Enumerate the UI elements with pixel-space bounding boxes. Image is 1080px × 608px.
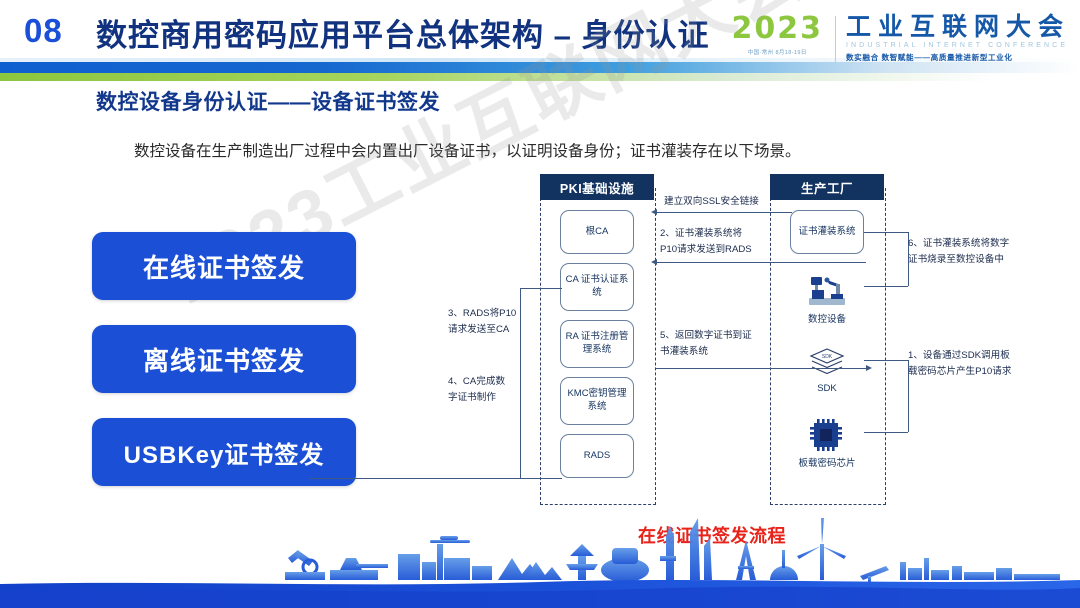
button-label: 在线证书签发 (143, 248, 305, 285)
node-root-ca[interactable]: 根CA (560, 210, 634, 254)
cnc-machine-icon (805, 274, 849, 308)
logo-tagline: 数实融合 数智赋能——高质量推进新型工业化 (846, 52, 1070, 63)
annotation-step-3: 3、RADS将P10 请求发送至CA (448, 306, 516, 339)
factory-item-label: 板载密码芯片 (782, 455, 872, 469)
node-rads[interactable]: RADS (560, 434, 634, 478)
annotation-step-6-line1: 6、证书灌装系统将数字 (908, 236, 1009, 252)
annotation-step-1-line2: 载密码芯片产生P10请求 (908, 364, 1011, 380)
annotation-step-1-line1: 1、设备通过SDK调用板 (908, 348, 1011, 364)
arrow-ssl (651, 209, 657, 215)
annotation-step-2: 2、证书灌装系统将 P10请求发送到RADS (660, 226, 752, 259)
node-cert-filling-system[interactable]: 证书灌装系统 (790, 210, 864, 254)
certificate-issue-flow-diagram: PKI基础设施 生产工厂 根CA CA 证书认证系统 RA 证书注册管理系统 K… (420, 178, 1080, 528)
footer-skyline (0, 510, 1080, 608)
svg-text:SDK: SDK (822, 354, 833, 360)
logo-year: 2023 (731, 14, 823, 44)
slide-root: 08 数控商用密码应用平台总体架构 – 身份认证 2023 中国·常州 8月18… (0, 0, 1080, 608)
conference-logo: 2023 中国·常州 8月18-19日 工业互联网大会 INDUSTRIAL I… (731, 14, 1070, 70)
lane-header-pki: PKI基础设施 (540, 174, 654, 200)
section-title: 数控设备身份认证——设备证书签发 (96, 86, 440, 116)
node-ca-system[interactable]: CA 证书认证系统 (560, 263, 634, 311)
arrow-step2 (651, 259, 657, 265)
factory-item-cnc: 数控设备 (782, 274, 872, 325)
arrow-step5 (866, 365, 872, 371)
button-online-cert-issue[interactable]: 在线证书签发 (92, 232, 356, 300)
node-ra-system[interactable]: RA 证书注册管理系统 (560, 320, 634, 368)
page-number: 08 (24, 12, 63, 50)
connector-step3-top (520, 288, 562, 289)
annotation-step-5: 5、返回数字证书到证 书灌装系统 (660, 328, 752, 361)
button-label: USBKey证书签发 (124, 435, 325, 470)
connector-rads-bottom (310, 478, 562, 479)
logo-year-block: 2023 中国·常州 8月18-19日 (731, 14, 835, 56)
logo-name-block: 工业互联网大会 INDUSTRIAL INTERNET CONFERENCE 数… (846, 14, 1070, 63)
button-offline-cert-issue[interactable]: 离线证书签发 (92, 325, 356, 393)
annotation-step-6: 6、证书灌装系统将数字 证书烧录至数控设备中 (908, 236, 1009, 269)
connector-step6-cnc (864, 286, 908, 287)
logo-name-cn: 工业互联网大会 (846, 14, 1070, 40)
city-skyline-graphic (0, 510, 1080, 608)
connector-step5 (656, 368, 866, 369)
connector-chip-right (864, 432, 908, 433)
annotation-step-6-line2: 证书烧录至数控设备中 (908, 252, 1009, 268)
sdk-layers-icon: SDK (805, 346, 849, 380)
annotation-step-5-line2: 书灌装系统 (660, 344, 752, 360)
section-paragraph: 数控设备在生产制造出厂过程中会内置出厂设备证书，以证明设备身份；证书灌装存在以下… (134, 139, 801, 161)
button-usbkey-cert-issue[interactable]: USBKey证书签发 (92, 418, 356, 486)
annotation-step-3-line1: 3、RADS将P10 (448, 306, 516, 322)
annotation-ssl: 建立双向SSL安全链接 (664, 194, 759, 210)
annotation-step-3-line2: 请求发送至CA (448, 322, 516, 338)
factory-item-label: 数控设备 (782, 311, 872, 325)
annotation-step-1: 1、设备通过SDK调用板 载密码芯片产生P10请求 (908, 348, 1011, 381)
annotation-step-5-line1: 5、返回数字证书到证 (660, 328, 752, 344)
button-label: 离线证书签发 (143, 341, 305, 378)
annotation-step-2-line2: P10请求发送到RADS (660, 242, 752, 258)
connector-step6-h (864, 232, 908, 233)
annotation-step-2-line1: 2、证书灌装系统将 (660, 226, 752, 242)
connector-step34-vertical (520, 288, 521, 478)
connector-sdk-right (864, 360, 908, 361)
factory-item-label: SDK (782, 383, 872, 394)
logo-name-en: INDUSTRIAL INTERNET CONFERENCE (846, 42, 1070, 49)
connector-step2 (656, 262, 866, 263)
factory-item-sdk: SDK SDK (782, 346, 872, 394)
annotation-step-4-line2: 字证书制作 (448, 390, 505, 406)
logo-divider (835, 16, 836, 64)
annotation-step-4-line1: 4、CA完成数 (448, 374, 505, 390)
connector-ssl (656, 212, 792, 213)
node-kmc-system[interactable]: KMC密钥管理系统 (560, 377, 634, 425)
annotation-step-4: 4、CA完成数 字证书制作 (448, 374, 505, 407)
page-title: 数控商用密码应用平台总体架构 – 身份认证 (96, 10, 709, 55)
header-divider-green (0, 73, 1080, 81)
logo-date: 中国·常州 8月18-19日 (731, 48, 823, 56)
factory-item-chip: 板载密码芯片 (782, 418, 872, 469)
lane-header-factory: 生产工厂 (770, 174, 884, 200)
crypto-chip-icon (807, 418, 847, 452)
